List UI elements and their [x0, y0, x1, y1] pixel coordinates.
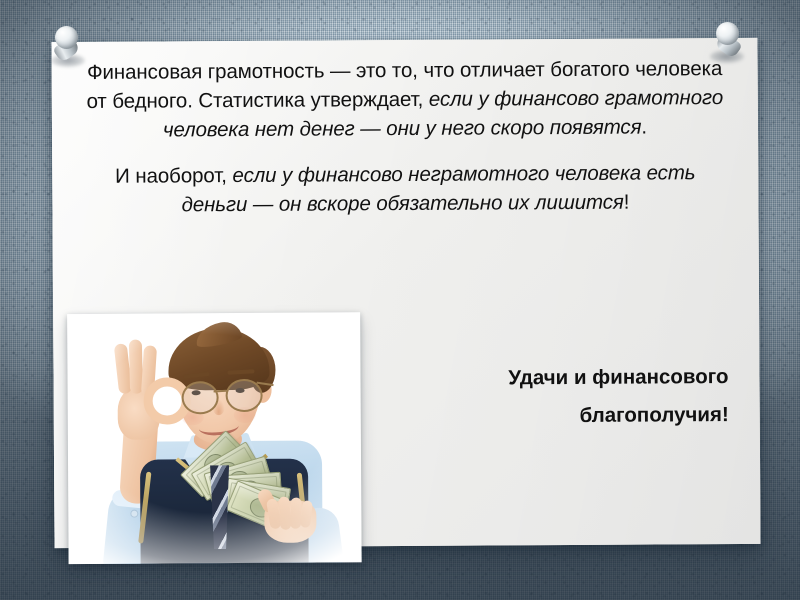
paper-sheet: Финансовая грамотность — это то, что отл…	[51, 38, 760, 548]
closing-wish: Удачи и финансового благополучия!	[398, 358, 728, 436]
paragraph-two-plain-start: И наоборот,	[115, 164, 227, 188]
paragraph-two-exclamation: !	[624, 191, 630, 214]
paragraph-two-italic-body: если у финансово неграмотного человека е…	[181, 161, 695, 216]
paragraph-one: Финансовая грамотность — это то, что отл…	[80, 54, 731, 145]
paragraph-one-period: .	[641, 116, 647, 139]
top-left-pushpin	[48, 24, 88, 76]
paragraph-one-line-three-plain: Статистика утверждает,	[198, 88, 423, 112]
paragraph-one-line-three-italic: если у финансово	[423, 87, 599, 111]
cuff-button	[130, 510, 138, 518]
paragraph-one-line-one: Финансовая грамотность — это то, что отл…	[87, 58, 545, 84]
paragraph-one-line-five-italic: скоро появятся	[490, 116, 641, 140]
quote-text-block: Финансовая грамотность — это то, что отл…	[51, 38, 758, 220]
eyeglass-lens-left	[182, 381, 219, 414]
pushpin-head	[55, 26, 78, 49]
pushpin-head	[716, 22, 739, 45]
paragraph-two: И наоборот, если у финансово неграмотног…	[80, 158, 730, 220]
closing-wish-line-two: благополучия!	[399, 396, 729, 436]
closing-wish-line-one: Удачи и финансового	[398, 358, 728, 398]
slide-canvas: Финансовая грамотность — это то, что отл…	[0, 0, 800, 600]
top-right-pushpin	[707, 20, 747, 72]
boy-with-money-photo	[67, 312, 362, 564]
